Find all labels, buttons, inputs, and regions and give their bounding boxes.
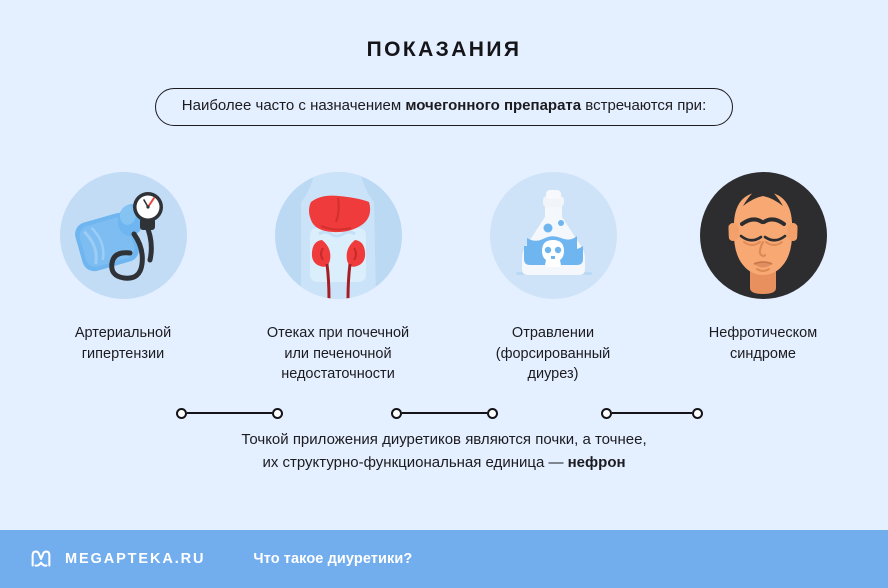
infographic-slide: ПОКАЗАНИЯ Наиболее часто с назначением м… xyxy=(0,0,888,588)
step-icon-circle xyxy=(60,172,187,299)
step-label-line: или печеночной xyxy=(243,344,433,365)
step-icon-circle xyxy=(275,172,402,299)
connector-line xyxy=(402,412,487,414)
swollen-face-icon xyxy=(700,172,827,299)
connector-3-4 xyxy=(601,406,703,420)
step-label: Отравлении (форсированный диурез) xyxy=(458,323,648,385)
connector-node xyxy=(176,408,187,419)
connector-node xyxy=(391,408,402,419)
step-label: Отеках при почечной или печеночной недос… xyxy=(243,323,433,385)
footnote-line-2-text: их структурно-функциональная единица — xyxy=(262,454,567,471)
connector-node xyxy=(692,408,703,419)
poison-bottle-icon xyxy=(490,172,617,299)
step-label-line: синдроме xyxy=(668,344,858,365)
step-item-edema: Отеках при почечной или печеночной недос… xyxy=(243,172,433,385)
step-label-line: Артериальной xyxy=(28,323,218,344)
subtitle-text-before: Наиболее часто с назначением xyxy=(182,97,406,114)
connector-node xyxy=(272,408,283,419)
footnote-line-2: их структурно-функциональная единица — н… xyxy=(0,451,888,474)
connector-line xyxy=(612,412,692,414)
connector-node xyxy=(487,408,498,419)
step-label-line: диурез) xyxy=(458,364,648,385)
liver-kidneys-icon xyxy=(275,172,402,299)
subtitle-text-bold: мочегонного препарата xyxy=(405,97,581,114)
step-label-line: гипертензии xyxy=(28,344,218,365)
footnote-line-1: Точкой приложения диуретиков являются по… xyxy=(0,428,888,451)
subtitle-pill-container: Наиболее часто с назначением мочегонного… xyxy=(0,88,888,126)
page-title: ПОКАЗАНИЯ xyxy=(0,38,888,62)
connector-1-2 xyxy=(176,406,283,420)
footnote-line-2-bold: нефрон xyxy=(568,454,626,471)
blood-pressure-cuff-icon xyxy=(60,172,187,299)
step-icon-circle xyxy=(700,172,827,299)
connector-line xyxy=(187,412,272,414)
connector-node xyxy=(601,408,612,419)
step-item-hypertension: Артериальной гипертензии xyxy=(28,172,218,364)
footer-bar: MEGAPTEKA.RU Что такое диуретики? xyxy=(0,530,888,588)
subtitle-text-after: встречаются при: xyxy=(581,97,706,114)
step-label-line: Отравлении xyxy=(458,323,648,344)
step-item-poisoning: Отравлении (форсированный диурез) xyxy=(458,172,648,385)
footnote: Точкой приложения диуретиков являются по… xyxy=(0,428,888,475)
step-label-line: недостаточности xyxy=(243,364,433,385)
step-item-nephrotic: Нефротическом синдроме xyxy=(668,172,858,364)
step-label-line: Нефротическом xyxy=(668,323,858,344)
step-label: Нефротическом синдроме xyxy=(668,323,858,364)
step-label: Артериальной гипертензии xyxy=(28,323,218,364)
connector-2-3 xyxy=(391,406,498,420)
brand-name[interactable]: MEGAPTEKA.RU xyxy=(65,551,205,567)
step-label-line: Отеках при почечной xyxy=(243,323,433,344)
step-icon-circle xyxy=(490,172,617,299)
megapteka-m-logo-icon xyxy=(28,546,54,572)
step-label-line: (форсированный xyxy=(458,344,648,365)
steps-row: Артериальной гипертензии xyxy=(0,172,888,402)
subtitle-pill: Наиболее часто с назначением мочегонного… xyxy=(155,88,733,126)
footer-link[interactable]: Что такое диуретики? xyxy=(253,551,412,567)
